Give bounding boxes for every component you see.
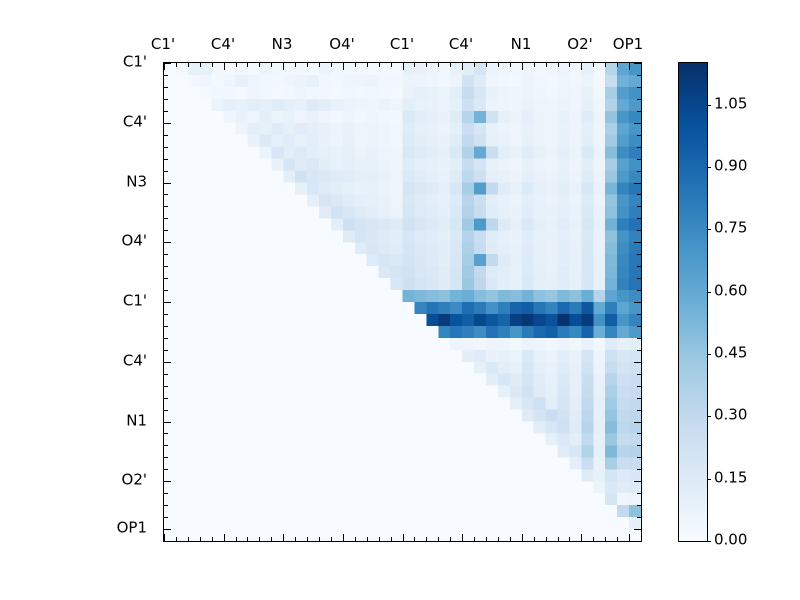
axis-tick bbox=[637, 445, 641, 446]
axis-tick bbox=[164, 517, 168, 518]
axis-tick bbox=[391, 63, 392, 67]
axis-tick bbox=[164, 290, 168, 291]
colorbar[interactable] bbox=[678, 62, 708, 542]
axis-tick bbox=[637, 541, 641, 542]
axis-tick bbox=[510, 63, 511, 67]
axis-tick bbox=[403, 63, 404, 70]
axis-tick bbox=[164, 302, 171, 303]
x-tick-label: C1' bbox=[390, 37, 414, 52]
axis-tick bbox=[164, 194, 168, 195]
colorbar-tick bbox=[707, 354, 711, 355]
colorbar-tick-label: 0.00 bbox=[714, 533, 747, 548]
axis-tick bbox=[283, 63, 284, 70]
axis-tick bbox=[379, 63, 380, 67]
axis-tick bbox=[637, 350, 641, 351]
axis-tick bbox=[637, 278, 641, 279]
x-tick-label: N1 bbox=[511, 37, 532, 52]
axis-tick bbox=[510, 537, 511, 541]
axis-tick bbox=[637, 171, 641, 172]
axis-tick bbox=[164, 242, 171, 243]
axis-tick bbox=[295, 63, 296, 67]
axis-tick bbox=[634, 422, 641, 423]
axis-tick bbox=[343, 534, 344, 541]
axis-tick bbox=[236, 537, 237, 541]
axis-tick bbox=[637, 457, 641, 458]
axis-tick bbox=[637, 290, 641, 291]
axis-tick bbox=[271, 537, 272, 541]
axis-tick bbox=[637, 99, 641, 100]
axis-tick bbox=[637, 159, 641, 160]
heatmap-matrix[interactable] bbox=[164, 63, 641, 541]
axis-tick bbox=[403, 534, 404, 541]
axis-tick bbox=[164, 493, 168, 494]
axis-tick bbox=[522, 63, 523, 70]
colorbar-tick-label: 1.05 bbox=[714, 96, 747, 111]
axis-tick bbox=[558, 537, 559, 541]
axis-tick bbox=[367, 537, 368, 541]
axis-tick bbox=[641, 537, 642, 541]
axis-tick bbox=[164, 386, 168, 387]
axis-tick bbox=[164, 63, 165, 70]
axis-tick bbox=[634, 183, 641, 184]
axis-tick bbox=[617, 63, 618, 67]
colorbar-tick-label: 0.90 bbox=[714, 158, 747, 173]
x-tick-label: C4' bbox=[449, 37, 473, 52]
axis-tick bbox=[164, 410, 168, 411]
axis-tick bbox=[637, 374, 641, 375]
axis-tick bbox=[164, 445, 168, 446]
axis-tick bbox=[637, 254, 641, 255]
axis-tick bbox=[224, 63, 225, 70]
axis-tick bbox=[641, 63, 642, 67]
axis-tick bbox=[164, 350, 168, 351]
axis-tick bbox=[637, 206, 641, 207]
axis-tick bbox=[164, 505, 168, 506]
axis-tick bbox=[164, 159, 168, 160]
heatmap-axes[interactable] bbox=[163, 62, 642, 542]
colorbar-tick bbox=[707, 479, 711, 480]
axis-tick bbox=[634, 63, 641, 64]
x-tick-label: C4' bbox=[211, 37, 235, 52]
axis-tick bbox=[283, 534, 284, 541]
axis-tick bbox=[637, 230, 641, 231]
axis-tick bbox=[355, 537, 356, 541]
axis-tick bbox=[450, 537, 451, 541]
axis-tick bbox=[164, 433, 168, 434]
axis-tick bbox=[605, 63, 606, 67]
axis-tick bbox=[236, 63, 237, 67]
y-tick-label: N1 bbox=[126, 414, 155, 429]
axis-tick bbox=[164, 111, 168, 112]
axis-tick bbox=[164, 123, 171, 124]
axis-tick bbox=[259, 63, 260, 67]
axis-tick bbox=[581, 63, 582, 70]
axis-tick bbox=[462, 63, 463, 70]
axis-tick bbox=[637, 147, 641, 148]
axis-tick bbox=[593, 63, 594, 67]
axis-tick bbox=[164, 481, 171, 482]
axis-tick bbox=[200, 63, 201, 67]
axis-tick bbox=[188, 63, 189, 67]
axis-tick bbox=[343, 63, 344, 70]
x-axis-tick-labels: C1'C4'N3O4'C1'C4'N1O2'OP1 bbox=[163, 0, 640, 58]
axis-tick bbox=[164, 135, 168, 136]
axis-tick bbox=[164, 99, 168, 100]
colorbar-tick bbox=[707, 541, 711, 542]
y-axis-tick-labels: C1'C4'N3O4'C1'C4'N1O2'OP1 bbox=[0, 62, 155, 540]
axis-tick bbox=[474, 63, 475, 67]
axis-tick bbox=[546, 63, 547, 67]
axis-tick bbox=[637, 75, 641, 76]
y-tick-label: OP1 bbox=[117, 521, 155, 536]
colorbar-tick-label: 0.75 bbox=[714, 221, 747, 236]
axis-tick bbox=[164, 266, 168, 267]
axis-tick bbox=[247, 63, 248, 67]
axis-tick bbox=[414, 63, 415, 67]
axis-tick bbox=[634, 481, 641, 482]
axis-tick bbox=[414, 537, 415, 541]
axis-tick bbox=[379, 537, 380, 541]
axis-tick bbox=[637, 266, 641, 267]
axis-tick bbox=[176, 537, 177, 541]
axis-tick bbox=[569, 63, 570, 67]
axis-tick bbox=[498, 537, 499, 541]
axis-tick bbox=[522, 534, 523, 541]
axis-tick bbox=[188, 537, 189, 541]
axis-tick bbox=[637, 326, 641, 327]
axis-tick bbox=[164, 206, 168, 207]
axis-tick bbox=[534, 537, 535, 541]
axis-tick bbox=[164, 422, 171, 423]
axis-tick bbox=[259, 537, 260, 541]
x-tick-label: O4' bbox=[329, 37, 354, 52]
y-tick-label: C1' bbox=[123, 55, 155, 70]
axis-tick bbox=[634, 362, 641, 363]
axis-tick bbox=[462, 534, 463, 541]
axis-tick bbox=[629, 534, 630, 541]
colorbar-tick bbox=[707, 167, 711, 168]
axis-tick bbox=[164, 529, 171, 530]
axis-tick bbox=[319, 63, 320, 67]
axis-tick bbox=[637, 218, 641, 219]
axis-tick bbox=[391, 537, 392, 541]
axis-tick bbox=[634, 529, 641, 530]
axis-tick bbox=[486, 63, 487, 67]
axis-tick bbox=[164, 398, 168, 399]
axis-tick bbox=[426, 63, 427, 67]
colorbar-tick bbox=[707, 229, 711, 230]
colorbar-tick bbox=[707, 416, 711, 417]
axis-tick bbox=[617, 537, 618, 541]
axis-tick bbox=[534, 63, 535, 67]
x-tick-label: O2' bbox=[567, 37, 592, 52]
axis-tick bbox=[637, 386, 641, 387]
axis-tick bbox=[634, 302, 641, 303]
axis-tick bbox=[164, 171, 168, 172]
axis-tick bbox=[637, 111, 641, 112]
axis-tick bbox=[634, 242, 641, 243]
axis-tick bbox=[581, 534, 582, 541]
axis-tick bbox=[637, 469, 641, 470]
axis-tick bbox=[164, 457, 168, 458]
axis-tick bbox=[212, 537, 213, 541]
axis-tick bbox=[637, 410, 641, 411]
axis-tick bbox=[546, 537, 547, 541]
axis-tick bbox=[164, 362, 171, 363]
axis-tick bbox=[450, 63, 451, 67]
y-tick-label: O4' bbox=[122, 234, 155, 249]
axis-tick bbox=[498, 63, 499, 67]
axis-tick bbox=[637, 135, 641, 136]
colorbar-tick-label: 0.30 bbox=[714, 408, 747, 423]
colorbar-tick-label: 0.15 bbox=[714, 470, 747, 485]
axis-tick bbox=[593, 537, 594, 541]
y-tick-label: O2' bbox=[122, 473, 155, 488]
axis-tick bbox=[164, 374, 168, 375]
axis-tick bbox=[426, 537, 427, 541]
axis-tick bbox=[367, 63, 368, 67]
axis-tick bbox=[164, 218, 168, 219]
axis-tick bbox=[637, 338, 641, 339]
axis-tick bbox=[247, 537, 248, 541]
y-tick-label: N3 bbox=[126, 175, 155, 190]
colorbar-tick bbox=[707, 105, 711, 106]
axis-tick bbox=[637, 517, 641, 518]
axis-tick bbox=[295, 537, 296, 541]
axis-tick bbox=[637, 398, 641, 399]
axis-tick bbox=[307, 63, 308, 67]
x-tick-label: N3 bbox=[272, 37, 293, 52]
axis-tick bbox=[164, 338, 168, 339]
axis-tick bbox=[331, 537, 332, 541]
axis-tick bbox=[164, 469, 168, 470]
axis-tick bbox=[637, 493, 641, 494]
axis-tick bbox=[319, 537, 320, 541]
x-tick-label: C1' bbox=[151, 37, 175, 52]
axis-tick bbox=[164, 326, 168, 327]
colorbar-gradient bbox=[679, 63, 707, 541]
axis-tick bbox=[164, 534, 165, 541]
axis-tick bbox=[637, 194, 641, 195]
axis-tick bbox=[164, 541, 168, 542]
axis-tick bbox=[224, 534, 225, 541]
axis-tick bbox=[164, 230, 168, 231]
axis-tick bbox=[271, 63, 272, 67]
axis-tick bbox=[164, 87, 168, 88]
axis-tick bbox=[629, 63, 630, 70]
figure-canvas: C1'C4'N3O4'C1'C4'N1O2'OP1 C1'C4'N3O4'C1'… bbox=[0, 0, 800, 600]
axis-tick bbox=[164, 183, 171, 184]
axis-tick bbox=[605, 537, 606, 541]
axis-tick bbox=[569, 537, 570, 541]
colorbar-tick bbox=[707, 292, 711, 293]
axis-tick bbox=[637, 433, 641, 434]
axis-tick bbox=[637, 505, 641, 506]
axis-tick bbox=[637, 314, 641, 315]
axis-tick bbox=[331, 63, 332, 67]
y-tick-label: C4' bbox=[123, 354, 155, 369]
axis-tick bbox=[164, 314, 168, 315]
axis-tick bbox=[164, 278, 168, 279]
axis-tick bbox=[164, 63, 171, 64]
axis-tick bbox=[176, 63, 177, 67]
y-tick-label: C4' bbox=[123, 115, 155, 130]
axis-tick bbox=[634, 123, 641, 124]
y-tick-label: C1' bbox=[123, 294, 155, 309]
axis-tick bbox=[474, 537, 475, 541]
axis-tick bbox=[164, 75, 168, 76]
axis-tick bbox=[212, 63, 213, 67]
axis-tick bbox=[486, 537, 487, 541]
x-tick-label: OP1 bbox=[613, 37, 643, 52]
axis-tick bbox=[164, 147, 168, 148]
axis-tick bbox=[164, 254, 168, 255]
colorbar-tick-label: 0.45 bbox=[714, 345, 747, 360]
axis-tick bbox=[558, 63, 559, 67]
axis-tick bbox=[438, 537, 439, 541]
axis-tick bbox=[438, 63, 439, 67]
axis-tick bbox=[355, 63, 356, 67]
axis-tick bbox=[637, 87, 641, 88]
colorbar-tick-label: 0.60 bbox=[714, 283, 747, 298]
axis-tick bbox=[200, 537, 201, 541]
axis-tick bbox=[307, 537, 308, 541]
